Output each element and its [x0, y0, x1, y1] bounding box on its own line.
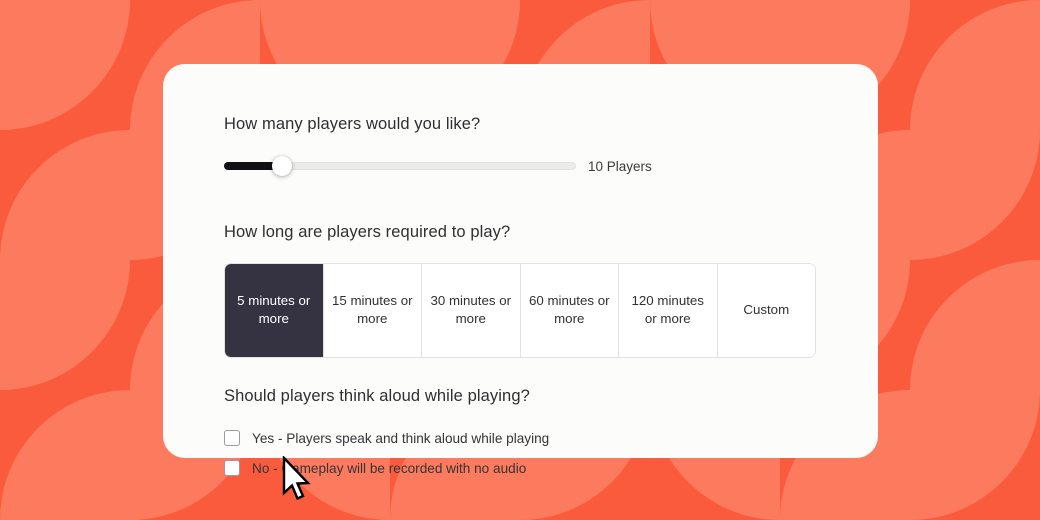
checkbox-icon[interactable]	[224, 430, 240, 446]
duration-option-15min[interactable]: 15 minutes or more	[324, 264, 423, 357]
think-aloud-option-no[interactable]: No - Gameplay will be recorded with no a…	[224, 456, 824, 480]
duration-option-30min[interactable]: 30 minutes or more	[422, 264, 521, 357]
duration-option-5min[interactable]: 5 minutes or more	[225, 264, 324, 357]
duration-option-120min[interactable]: 120 minutes or more	[619, 264, 718, 357]
think-aloud-options: Yes - Players speak and think aloud whil…	[224, 426, 824, 480]
duration-option-label: 5 minutes or more	[231, 292, 317, 330]
slider-thumb[interactable]	[272, 156, 292, 176]
checkbox-label: No - Gameplay will be recorded with no a…	[252, 461, 526, 476]
think-aloud-option-yes[interactable]: Yes - Players speak and think aloud whil…	[224, 426, 824, 450]
duration-option-custom[interactable]: Custom	[718, 264, 816, 357]
duration-option-label: Custom	[743, 301, 789, 320]
players-slider-group: 10 Players	[224, 156, 824, 176]
duration-option-label: 30 minutes or more	[428, 292, 514, 330]
duration-option-label: 60 minutes or more	[527, 292, 613, 330]
card-content: How many players would you like? 10 Play…	[224, 114, 824, 486]
survey-card: How many players would you like? 10 Play…	[163, 64, 878, 458]
checkbox-icon[interactable]	[224, 460, 240, 476]
duration-question-group: How long are players required to play? 5…	[224, 222, 824, 357]
think-aloud-question-group: Should players think aloud while playing…	[224, 386, 824, 480]
think-aloud-question-heading: Should players think aloud while playing…	[224, 386, 824, 407]
players-question-group: How many players would you like? 10 Play…	[224, 114, 824, 176]
players-question-heading: How many players would you like?	[224, 114, 824, 135]
players-slider[interactable]	[224, 156, 576, 176]
duration-option-label: 120 minutes or more	[625, 292, 711, 330]
duration-option-60min[interactable]: 60 minutes or more	[521, 264, 620, 357]
duration-option-label: 15 minutes or more	[330, 292, 416, 330]
duration-segmented-control[interactable]: 5 minutes or more 15 minutes or more 30 …	[224, 263, 816, 358]
checkbox-label: Yes - Players speak and think aloud whil…	[252, 431, 549, 446]
players-value-label: 10 Players	[588, 159, 652, 174]
duration-question-heading: How long are players required to play?	[224, 222, 824, 243]
